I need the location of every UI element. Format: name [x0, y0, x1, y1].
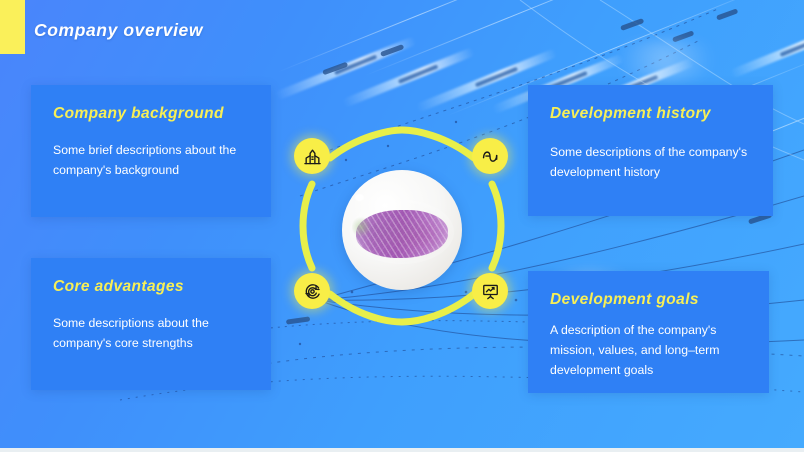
brain-photo-disc	[342, 170, 462, 290]
card-title: Company background	[53, 105, 249, 123]
node-development-history[interactable]	[472, 138, 508, 174]
building-icon	[303, 147, 322, 166]
hairline-streak	[365, 0, 662, 76]
light-streak	[275, 36, 417, 101]
card-company-background[interactable]: Company background Some brief descriptio…	[31, 85, 271, 217]
card-core-advantages[interactable]: Core advantages Some descriptions about …	[31, 258, 271, 390]
glow-blob	[600, 40, 730, 80]
light-streak	[729, 23, 804, 79]
light-streak	[342, 47, 475, 108]
page-title: Company overview	[34, 20, 203, 41]
disc-highlight	[355, 194, 364, 201]
slide-canvas: Company overview	[0, 0, 804, 452]
presentation-chart-icon	[481, 282, 500, 301]
card-body: Some descriptions of the company's devel…	[550, 143, 751, 183]
card-title: Development goals	[550, 291, 747, 309]
card-development-goals[interactable]: Development goals A description of the c…	[528, 271, 769, 393]
target-spiral-icon	[303, 282, 322, 301]
node-core-advantages[interactable]	[294, 273, 330, 309]
center-diagram	[286, 118, 518, 334]
card-title: Development history	[550, 105, 751, 123]
hairline-streak	[277, 0, 556, 73]
pulse-wave-icon	[481, 147, 500, 166]
card-body: A description of the company's mission, …	[550, 321, 747, 381]
disc-sheen	[350, 200, 454, 264]
card-body: Some descriptions about the company's co…	[53, 314, 249, 354]
bottom-strip	[0, 448, 804, 452]
title-accent-block	[0, 0, 25, 54]
card-development-history[interactable]: Development history Some descriptions of…	[528, 85, 773, 216]
node-company-background[interactable]	[294, 138, 330, 174]
card-body: Some brief descriptions about the compan…	[53, 141, 249, 181]
card-title: Core advantages	[53, 278, 249, 296]
node-development-goals[interactable]	[472, 273, 508, 309]
